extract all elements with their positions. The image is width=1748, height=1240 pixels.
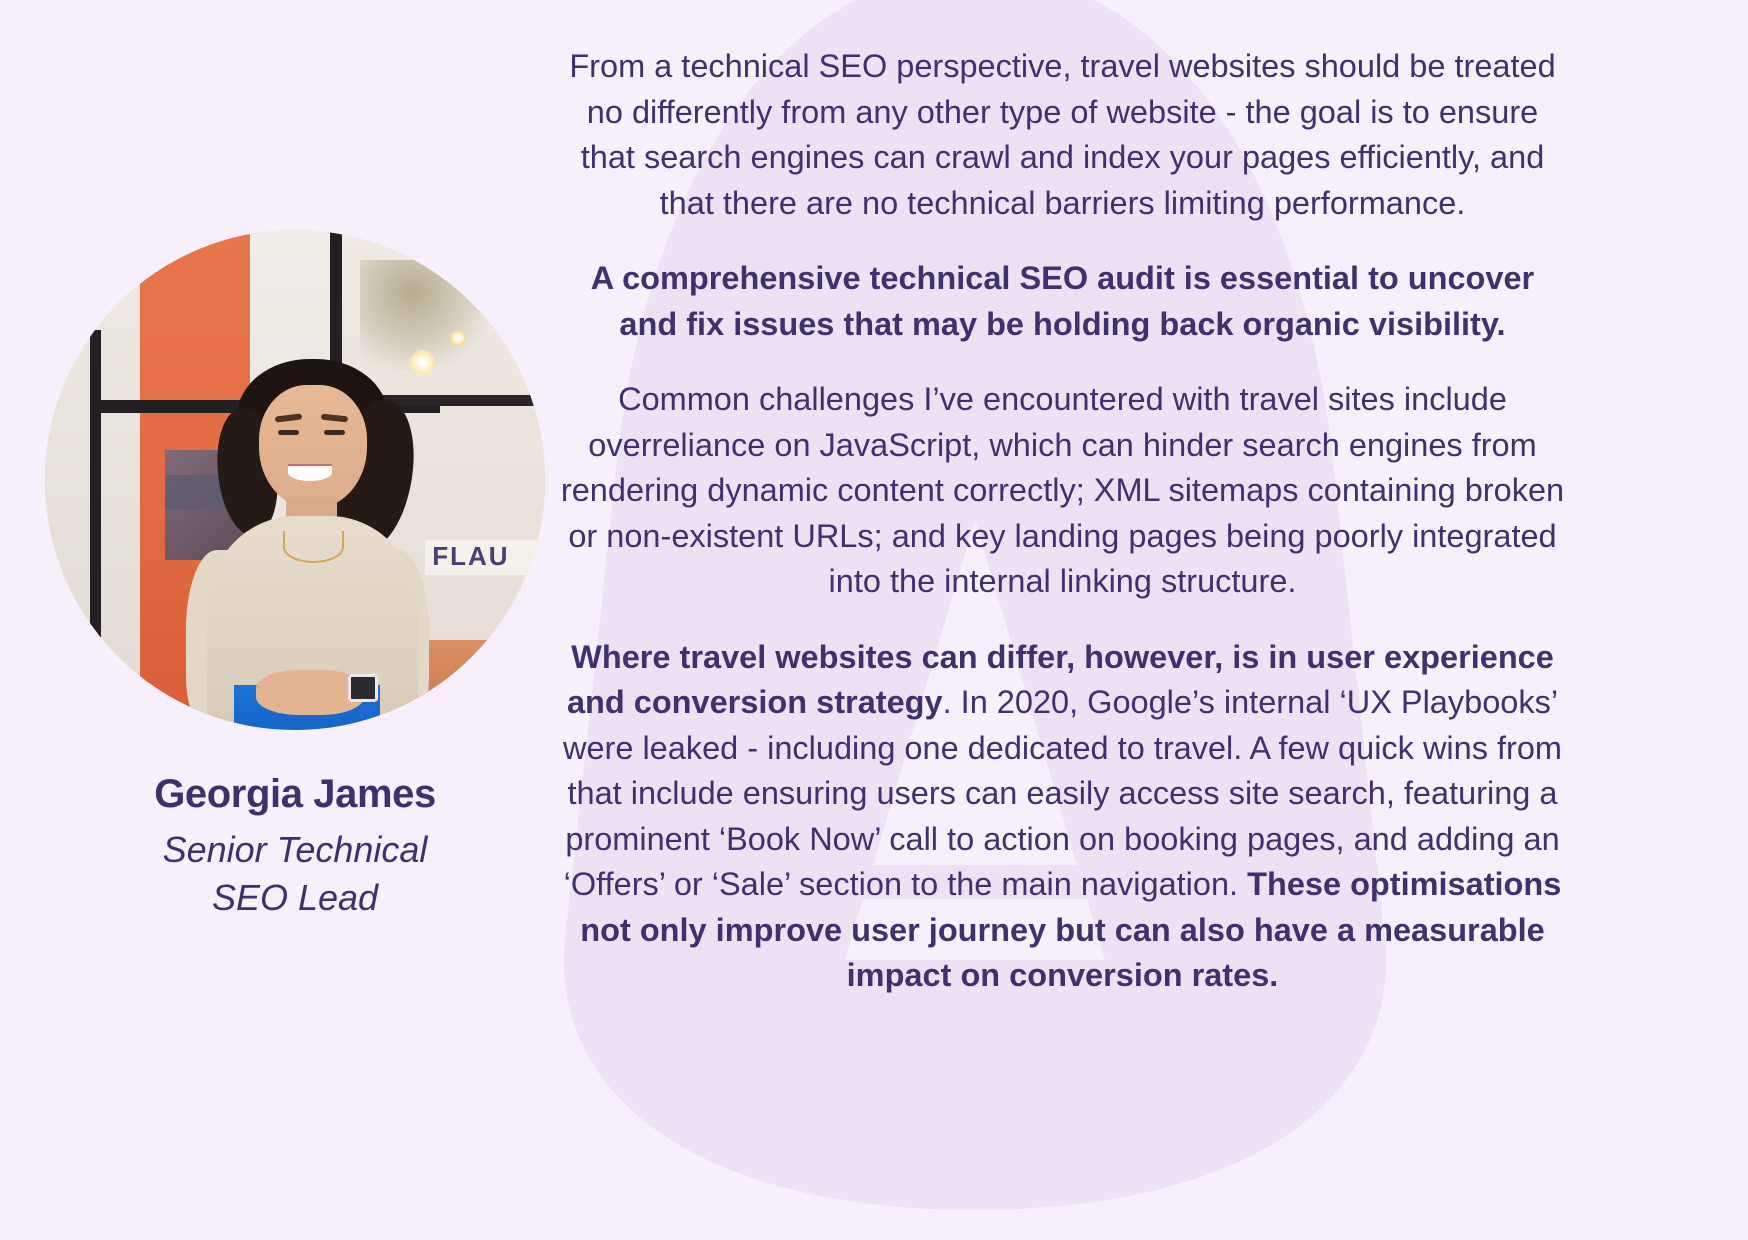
photo-eye-left (278, 430, 300, 435)
photo-smile (288, 464, 331, 481)
photo-face (259, 385, 367, 509)
profile-panel: FLAU Georgia Ja (0, 230, 590, 922)
photo-smartwatch (348, 674, 378, 703)
quote-body: From a technical SEO perspective, travel… (560, 44, 1565, 999)
quote-paragraph-3: Common challenges I’ve encountered with … (560, 377, 1565, 605)
photo-eye-right (324, 430, 346, 435)
photo-person (175, 355, 445, 730)
profile-role: Senior Technical SEO Lead (0, 826, 590, 922)
quote-paragraph-2: A comprehensive technical SEO audit is e… (560, 256, 1565, 347)
quote-paragraph-1: From a technical SEO perspective, travel… (560, 44, 1565, 226)
profile-role-line-1: Senior Technical (0, 826, 590, 874)
profile-role-line-2: SEO Lead (0, 874, 590, 922)
avatar: FLAU (45, 230, 545, 730)
testimonial-card: FLAU Georgia Ja (0, 0, 1748, 1240)
photo-window-mullion-left (90, 330, 101, 730)
photo-necklace (283, 531, 344, 563)
quote-paragraph-4: Where travel websites can differ, howeve… (560, 635, 1565, 999)
profile-name: Georgia James (0, 772, 590, 816)
photo-pendant-light-secondary (450, 330, 466, 346)
